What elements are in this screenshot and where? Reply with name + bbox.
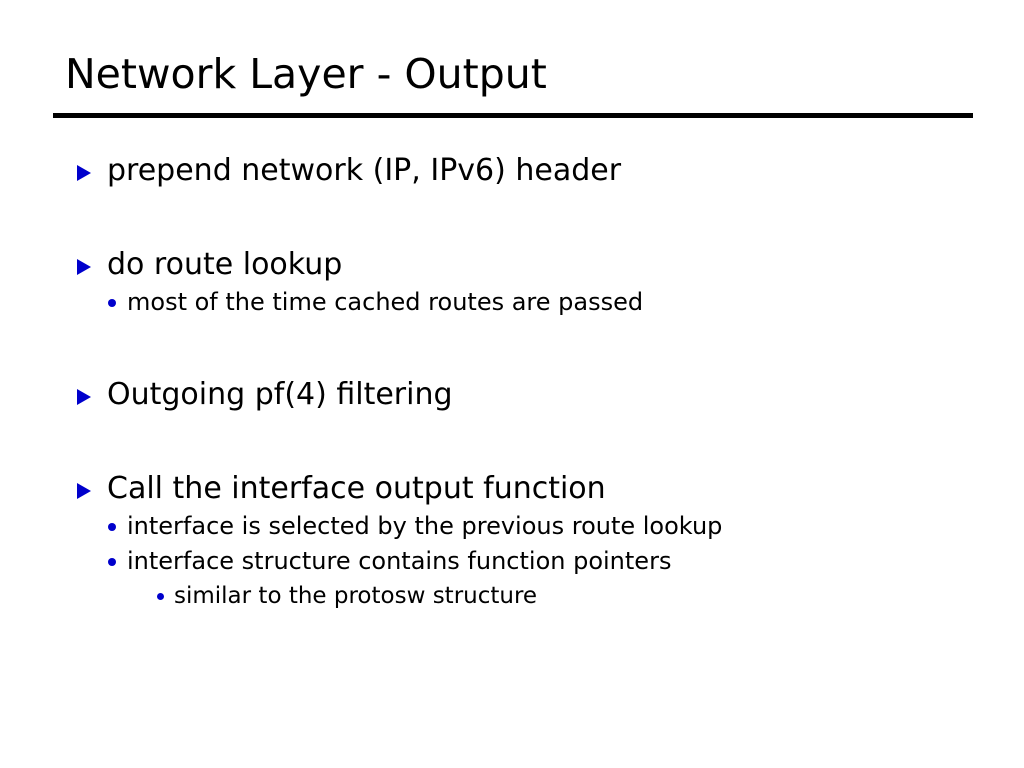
triangle-bullet-icon [77,259,91,275]
bullet-item-level2: interface structure contains function po… [0,544,1024,579]
bullet-item-level2: most of the time cached routes are passe… [0,285,1024,320]
bullet-text: similar to the protosw structure [174,583,537,609]
bullet-group: prepend network (IP, IPv6) header [0,152,1024,190]
bullet-text: interface structure contains function po… [127,547,671,575]
triangle-bullet-icon [77,389,91,405]
sub-bullet-list: interface is selected by the previous ro… [0,509,1024,614]
slide-title: Network Layer - Output [65,54,547,95]
bullet-text: Outgoing pf(4) filtering [107,377,453,412]
bullet-group: do route lookup most of the time cached … [0,246,1024,320]
triangle-bullet-icon [77,165,91,181]
sub-bullet-list: most of the time cached routes are passe… [0,285,1024,320]
bullet-item-level2: interface is selected by the previous ro… [0,509,1024,544]
title-divider-rule [53,113,973,118]
bullet-group: Call the interface output function inter… [0,470,1024,614]
dot-bullet-icon [157,593,164,600]
bullet-text: do route lookup [107,247,342,282]
bullet-text: prepend network (IP, IPv6) header [107,153,621,188]
bullet-group: Outgoing pf(4) filtering [0,376,1024,414]
bullet-item-level1: Outgoing pf(4) filtering [0,376,1024,414]
dot-bullet-icon [108,558,116,566]
bullet-text: most of the time cached routes are passe… [127,288,643,316]
dot-bullet-icon [108,299,116,307]
bullet-item-level1: do route lookup [0,246,1024,284]
bullet-text: interface is selected by the previous ro… [127,512,722,540]
bullet-item-level1: prepend network (IP, IPv6) header [0,152,1024,190]
presentation-slide: Network Layer - Output prepend network (… [0,0,1024,768]
slide-body: prepend network (IP, IPv6) header do rou… [0,152,1024,614]
dot-bullet-icon [108,523,116,531]
bullet-text: Call the interface output function [107,471,606,506]
bullet-item-level3: similar to the protosw structure [0,579,1024,614]
triangle-bullet-icon [77,483,91,499]
bullet-item-level1: Call the interface output function [0,470,1024,508]
